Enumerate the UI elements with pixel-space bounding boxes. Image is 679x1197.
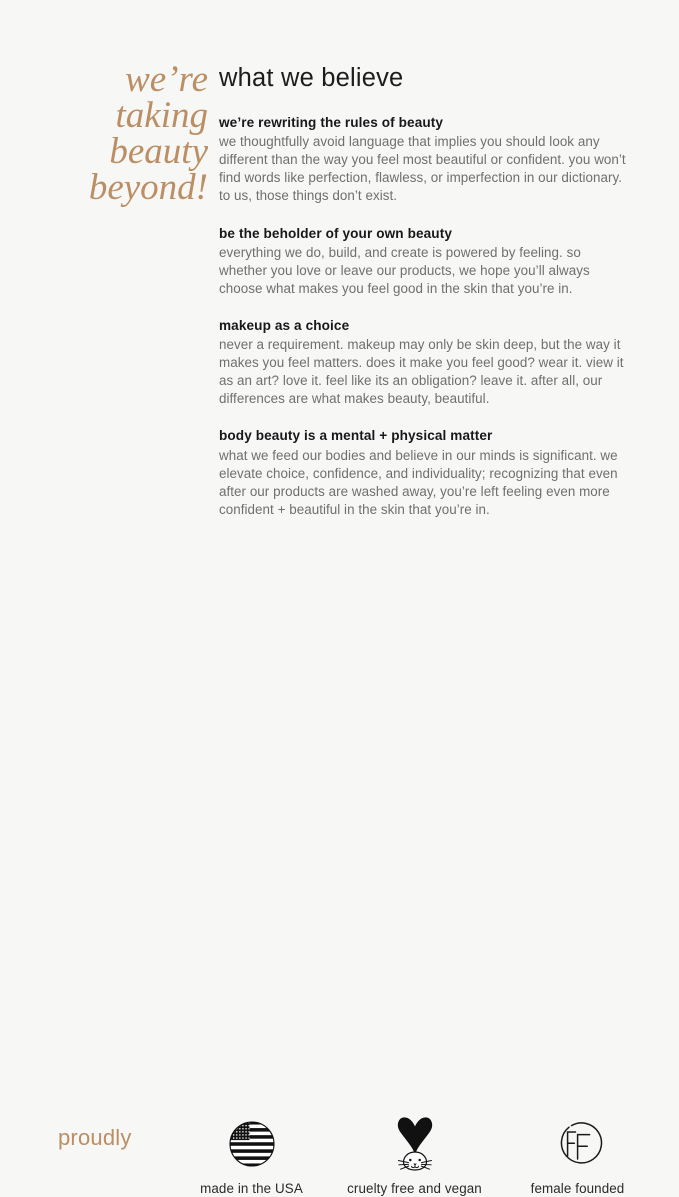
proudly-label: proudly [58,1127,132,1149]
belief-heading: makeup as a choice [219,317,629,335]
belief-body: never a requirement. makeup may only be … [219,336,629,408]
belief-body: we thoughtfully avoid language that impl… [219,133,629,205]
belief-block: makeup as a choice never a requirement. … [219,317,629,408]
badge-row: made in the USA [170,1114,660,1197]
script-line-1: we’re [40,62,208,98]
belief-body: everything we do, build, and create is p… [219,244,629,298]
script-line-3: beauty [40,134,208,170]
script-line-4: beyond! [40,170,208,206]
badge-cruelty-free: cruelty free and vegan [333,1114,496,1197]
cruelty-free-bunny-icon [390,1114,440,1174]
badge-label: female founded [531,1181,625,1197]
badge-label: cruelty free and vegan [347,1181,482,1197]
page-title: what we believe [219,64,629,92]
usa-flag-circle-icon [229,1114,275,1174]
belief-block: body beauty is a mental + physical matte… [219,427,629,518]
belief-content-area: we’re taking beauty beyond! what we beli… [0,0,679,552]
belief-block: we’re rewriting the rules of beauty we t… [219,114,629,205]
beliefs-column: what we believe we’re rewriting the rule… [219,64,629,519]
belief-heading: be the beholder of your own beauty [219,225,629,243]
belief-heading: body beauty is a mental + physical matte… [219,427,629,445]
footer-badges-area: proudly [0,552,679,679]
badge-label: made in the USA [200,1181,303,1197]
female-founded-monogram-icon [553,1114,603,1174]
poster-canvas: we’re taking beauty beyond! what we beli… [0,0,679,679]
belief-body: what we feed our bodies and believe in o… [219,447,629,519]
belief-heading: we’re rewriting the rules of beauty [219,114,629,132]
script-line-2: taking [40,98,208,134]
belief-block: be the beholder of your own beauty every… [219,225,629,298]
badge-made-in-usa: made in the USA [170,1114,333,1197]
badge-female-founded: female founded [496,1114,659,1197]
brand-script-lockup: we’re taking beauty beyond! [40,62,208,206]
